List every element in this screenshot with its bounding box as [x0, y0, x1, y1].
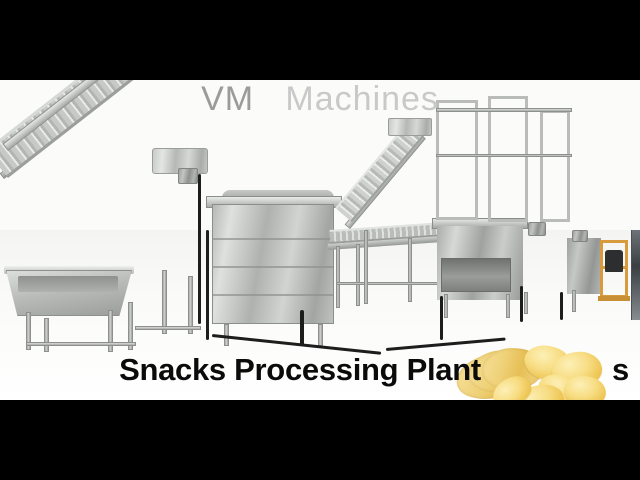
letterbox-bar-top	[0, 0, 640, 80]
discharge-machine	[567, 238, 601, 294]
cross-brace	[26, 342, 136, 346]
power-cable	[560, 292, 563, 320]
product-photo: VM Machines Snacks Processing Plant s	[0, 80, 640, 400]
support-leg	[524, 292, 528, 314]
watermark-prefix: VM	[201, 80, 254, 118]
caption-title: Snacks Processing Plant	[0, 352, 600, 388]
support-leg	[444, 294, 448, 318]
gantry-support-frame	[540, 110, 570, 222]
cabinet-panel-seam	[213, 294, 333, 296]
support-leg	[356, 244, 360, 306]
power-cable	[206, 230, 209, 340]
support-leg	[408, 238, 412, 302]
power-cable	[520, 286, 523, 322]
gantry-support-frame	[436, 100, 478, 220]
support-leg	[162, 270, 167, 334]
gantry-cross-rail	[436, 154, 572, 157]
cabinet-panel-seam	[213, 238, 333, 240]
gantry-support-frame	[488, 96, 528, 222]
cross-brace	[336, 282, 442, 285]
support-leg	[44, 318, 49, 352]
cabinet-panel-seam	[213, 266, 333, 268]
video-frame: VM Machines Snacks Processing Plant s	[0, 0, 640, 480]
power-cable	[440, 296, 443, 340]
cross-brace	[135, 326, 201, 330]
support-leg	[506, 294, 510, 318]
trolley-load	[605, 250, 623, 272]
conveyor-drive-motor	[178, 168, 198, 184]
control-panel-edge	[631, 230, 640, 320]
support-leg	[336, 246, 340, 308]
support-leg	[364, 230, 368, 304]
hopper-inner-trough	[18, 276, 118, 292]
support-leg	[572, 290, 576, 312]
power-cable	[198, 174, 201, 324]
support-leg	[318, 324, 323, 346]
trolley-base-plate	[598, 296, 630, 301]
second-conveyor-drive-housing	[388, 118, 432, 136]
fryer-oil-tank	[441, 258, 511, 292]
power-cable	[300, 310, 304, 346]
caption-clipped-text: s	[612, 352, 640, 388]
machine-motor	[572, 230, 588, 242]
gantry-cross-rail	[436, 108, 572, 112]
letterbox-bar-bottom	[0, 400, 640, 480]
washer-cabinet	[212, 204, 334, 324]
watermark-spacer	[265, 80, 275, 118]
machine-motor	[528, 222, 546, 236]
watermark-suffix: Machines	[285, 80, 439, 118]
